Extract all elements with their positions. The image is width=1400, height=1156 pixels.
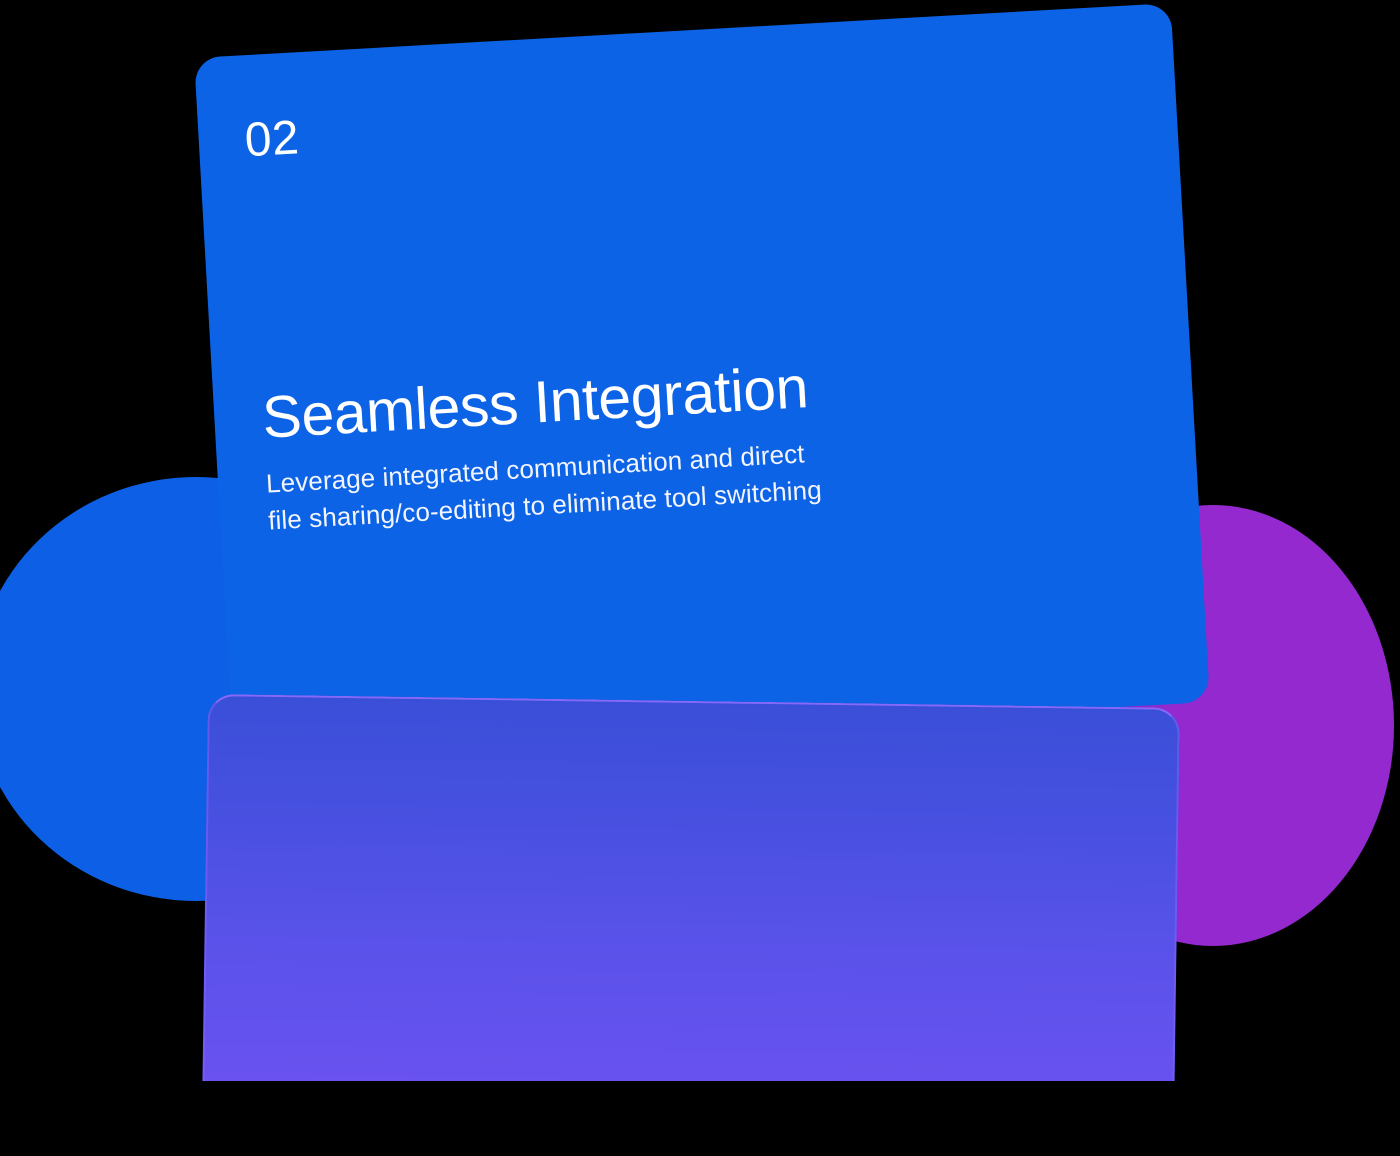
gradient-panel-border	[202, 694, 1180, 1108]
card-text-block: Seamless Integration Leverage integrated…	[261, 338, 1128, 539]
card-index-number: 02	[244, 114, 301, 165]
feature-card[interactable]: 02 Seamless Integration Leverage integra…	[194, 3, 1210, 757]
feature-card-stage: 02 Seamless Integration Leverage integra…	[0, 0, 1400, 1156]
feature-card-content: 02 Seamless Integration Leverage integra…	[194, 3, 1210, 757]
gradient-panel[interactable]	[202, 694, 1180, 1108]
